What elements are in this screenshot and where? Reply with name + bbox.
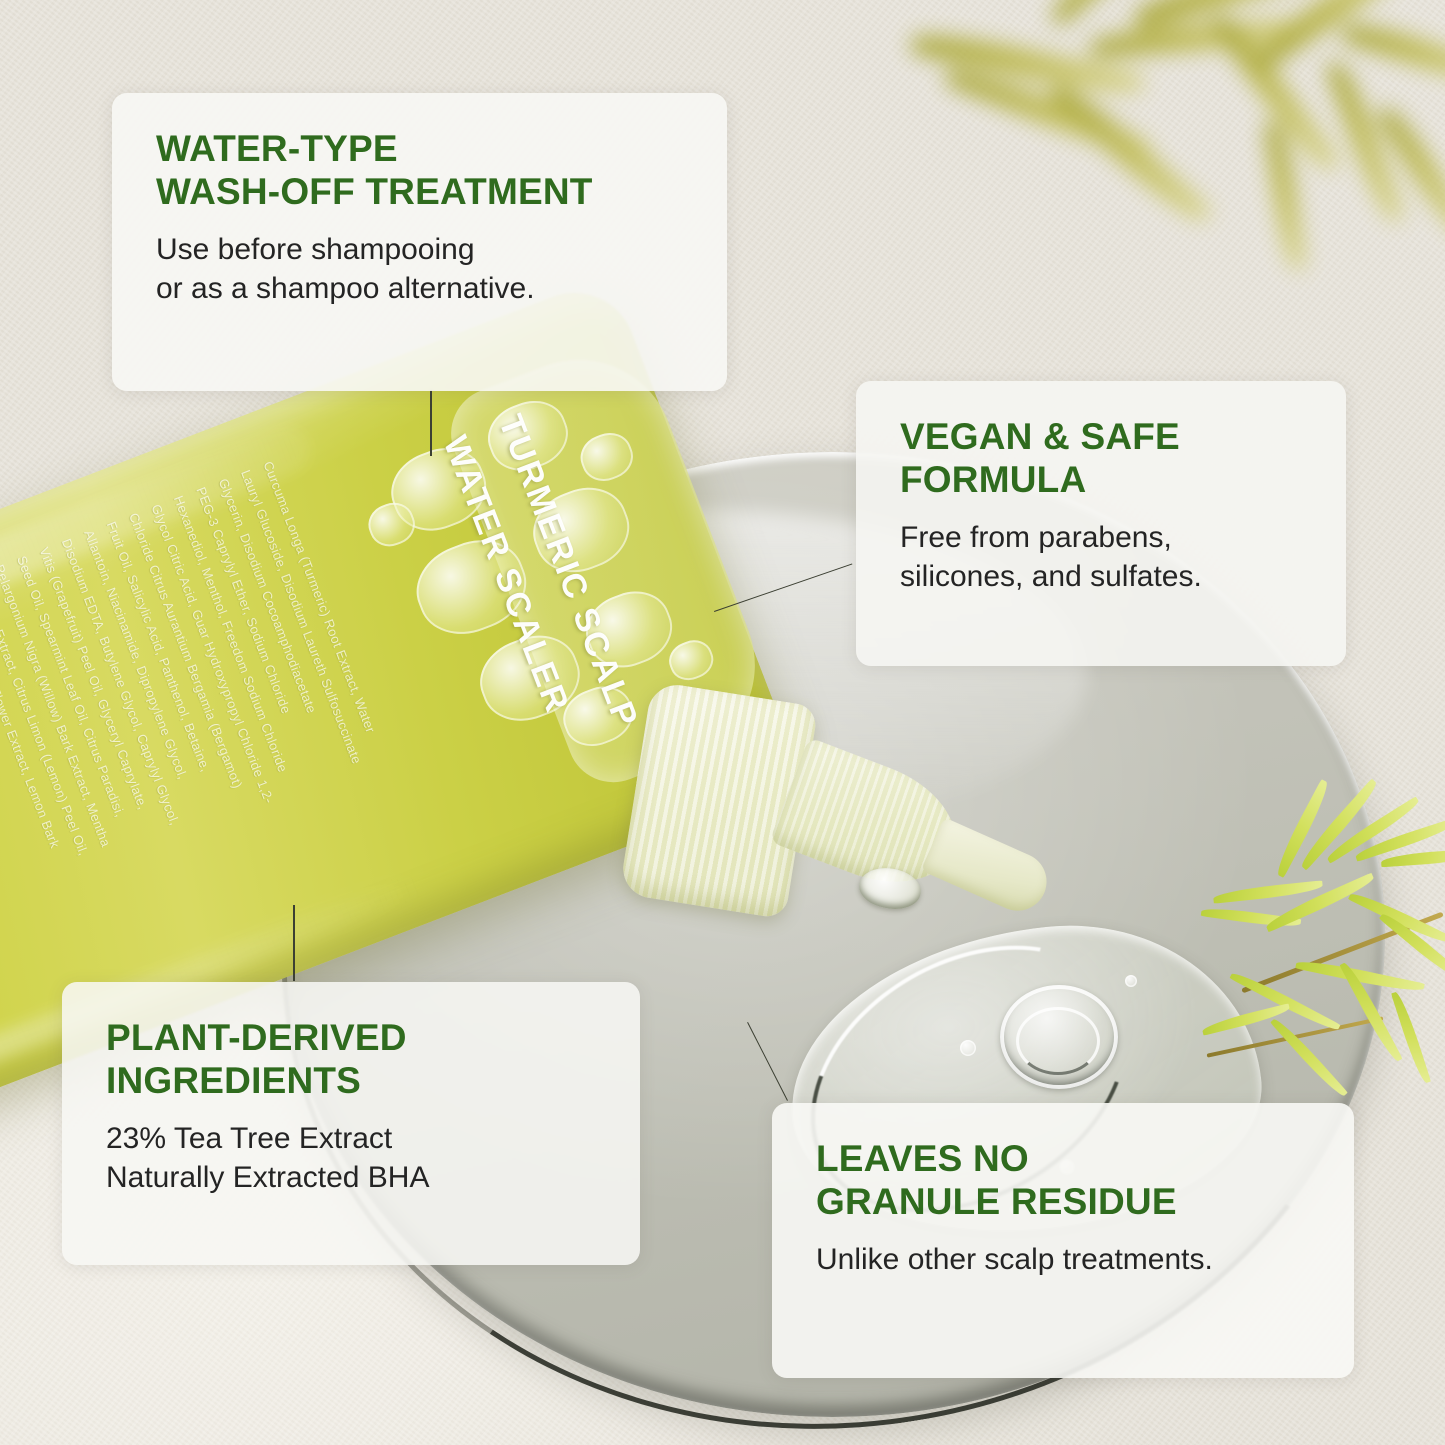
bottle-ingredient-fineprint: Curcuma Longa (Turmeric) Root Extract, W…: [0, 460, 424, 1006]
mini-bubble: [1125, 975, 1137, 987]
callout-body-line-1: Use before shampooing: [156, 233, 475, 266]
callout-card-vegan-safe: VEGAN & SAFE FORMULA Free from parabens,…: [856, 381, 1346, 666]
callout-body-line-1: Unlike other scalp treatments.: [816, 1243, 1213, 1276]
callout-title-line-2: FORMULA: [900, 459, 1086, 500]
connector-line-plant: [293, 905, 295, 981]
tea-tree-sprig-icon: [1195, 800, 1445, 1130]
callout-card-plant-derived: PLANT-DERIVED INGREDIENTS 23% Tea Tree E…: [62, 982, 640, 1265]
callout-body-line-2: silicones, and sulfates.: [900, 560, 1202, 593]
callout-body-line-2: or as a shampoo alternative.: [156, 272, 535, 305]
callout-body: Unlike other scalp treatments.: [816, 1240, 1314, 1280]
callout-title-line-2: WASH-OFF TREATMENT: [156, 171, 593, 212]
callout-title-line-1: WATER-TYPE: [156, 128, 398, 169]
gel-bubble-ring: [1000, 985, 1118, 1089]
callout-body-line-1: 23% Tea Tree Extract: [106, 1122, 392, 1155]
callout-body-line-2: Naturally Extracted BHA: [106, 1161, 429, 1194]
product-infographic: Curcuma Longa (Turmeric) Root Extract, W…: [0, 0, 1445, 1445]
callout-title: VEGAN & SAFE FORMULA: [900, 415, 1306, 502]
callout-title-line-2: INGREDIENTS: [106, 1060, 361, 1101]
callout-title-line-2: GRANULE RESIDUE: [816, 1181, 1177, 1222]
callout-body: 23% Tea Tree Extract Naturally Extracted…: [106, 1119, 600, 1199]
callout-title: WATER-TYPE WASH-OFF TREATMENT: [156, 127, 687, 214]
callout-title-line-1: PLANT-DERIVED: [106, 1017, 407, 1058]
blurred-tea-tree-branch-icon: [880, 0, 1445, 360]
callout-title: PLANT-DERIVED INGREDIENTS: [106, 1016, 600, 1103]
callout-card-no-residue: LEAVES NO GRANULE RESIDUE Unlike other s…: [772, 1103, 1354, 1378]
callout-body: Use before shampooing or as a shampoo al…: [156, 230, 687, 310]
callout-body-line-1: Free from parabens,: [900, 521, 1172, 554]
mini-bubble: [960, 1040, 976, 1056]
callout-title: LEAVES NO GRANULE RESIDUE: [816, 1137, 1314, 1224]
callout-title-line-1: LEAVES NO: [816, 1138, 1029, 1179]
callout-title-line-1: VEGAN & SAFE: [900, 416, 1180, 457]
connector-line-water-type: [430, 390, 432, 456]
callout-card-water-type: WATER-TYPE WASH-OFF TREATMENT Use before…: [112, 93, 727, 391]
callout-body: Free from parabens, silicones, and sulfa…: [900, 518, 1306, 598]
